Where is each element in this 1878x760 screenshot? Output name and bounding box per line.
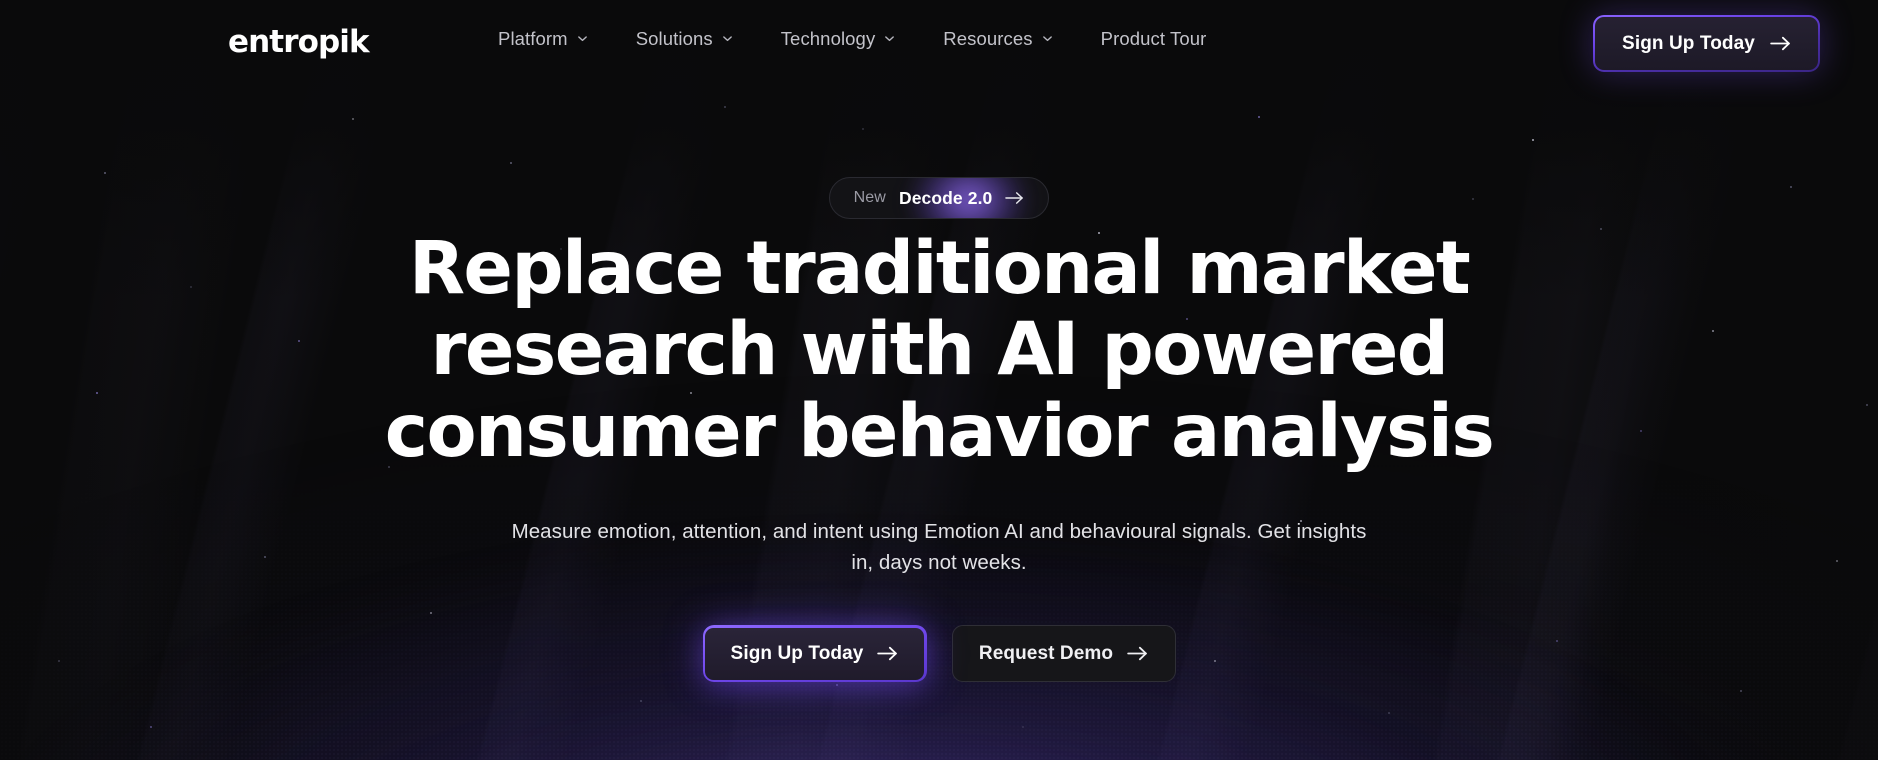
hero-subheadline: Measure emotion, attention, and intent u… bbox=[504, 516, 1374, 578]
entropik-logo[interactable]: entropik bbox=[228, 27, 369, 58]
nav-item-label: Solutions bbox=[636, 30, 713, 49]
hero-cta-row: Sign Up Today Request Demo bbox=[0, 625, 1878, 682]
hero-request-demo-button[interactable]: Request Demo bbox=[952, 625, 1176, 682]
nav-item-platform[interactable]: Platform bbox=[498, 30, 588, 49]
chevron-down-icon bbox=[577, 33, 588, 44]
nav-item-solutions[interactable]: Solutions bbox=[636, 30, 733, 49]
hero-request-demo-label: Request Demo bbox=[979, 643, 1113, 665]
hero-headline: Replace traditional market research with… bbox=[0, 228, 1878, 472]
top-navigation-bar: entropik Platform Solutions bbox=[0, 0, 1878, 92]
nav-item-product-tour[interactable]: Product Tour bbox=[1101, 30, 1207, 49]
nav-item-label: Product Tour bbox=[1101, 30, 1207, 49]
hero-headline-line-3: consumer behavior analysis bbox=[0, 391, 1878, 472]
hero-sign-up-today-label: Sign Up Today bbox=[731, 643, 864, 665]
hero-sign-up-today-button[interactable]: Sign Up Today bbox=[703, 625, 927, 682]
announcement-badge[interactable]: New Decode 2.0 bbox=[829, 177, 1050, 219]
announcement-badge-wrapper: New Decode 2.0 bbox=[0, 177, 1878, 219]
nav-item-resources[interactable]: Resources bbox=[943, 30, 1052, 49]
landing-page: entropik Platform Solutions bbox=[0, 0, 1878, 760]
nav-item-label: Resources bbox=[943, 30, 1032, 49]
chevron-down-icon bbox=[1042, 33, 1053, 44]
chevron-down-icon bbox=[884, 33, 895, 44]
nav-item-technology[interactable]: Technology bbox=[781, 30, 896, 49]
arrow-right-icon bbox=[1127, 646, 1148, 661]
nav-sign-up-today-button-inner: Sign Up Today bbox=[1595, 17, 1818, 70]
nav-sign-up-today-button[interactable]: Sign Up Today bbox=[1593, 15, 1820, 72]
arrow-right-icon bbox=[1005, 191, 1024, 205]
hero-sign-up-today-button-inner: Sign Up Today bbox=[705, 628, 924, 680]
chevron-down-icon bbox=[722, 33, 733, 44]
nav-links: Platform Solutions Technology bbox=[498, 30, 1206, 49]
hero-headline-line-1: Replace traditional market bbox=[0, 228, 1878, 309]
arrow-right-icon bbox=[1770, 36, 1791, 51]
nav-item-label: Technology bbox=[781, 30, 876, 49]
badge-title: Decode 2.0 bbox=[899, 188, 992, 209]
nav-sign-up-today-label: Sign Up Today bbox=[1622, 33, 1755, 55]
hero-headline-line-2: research with AI powered bbox=[0, 309, 1878, 390]
nav-item-label: Platform bbox=[498, 30, 568, 49]
arrow-right-icon bbox=[877, 646, 898, 661]
badge-new-tag: New bbox=[854, 189, 886, 207]
